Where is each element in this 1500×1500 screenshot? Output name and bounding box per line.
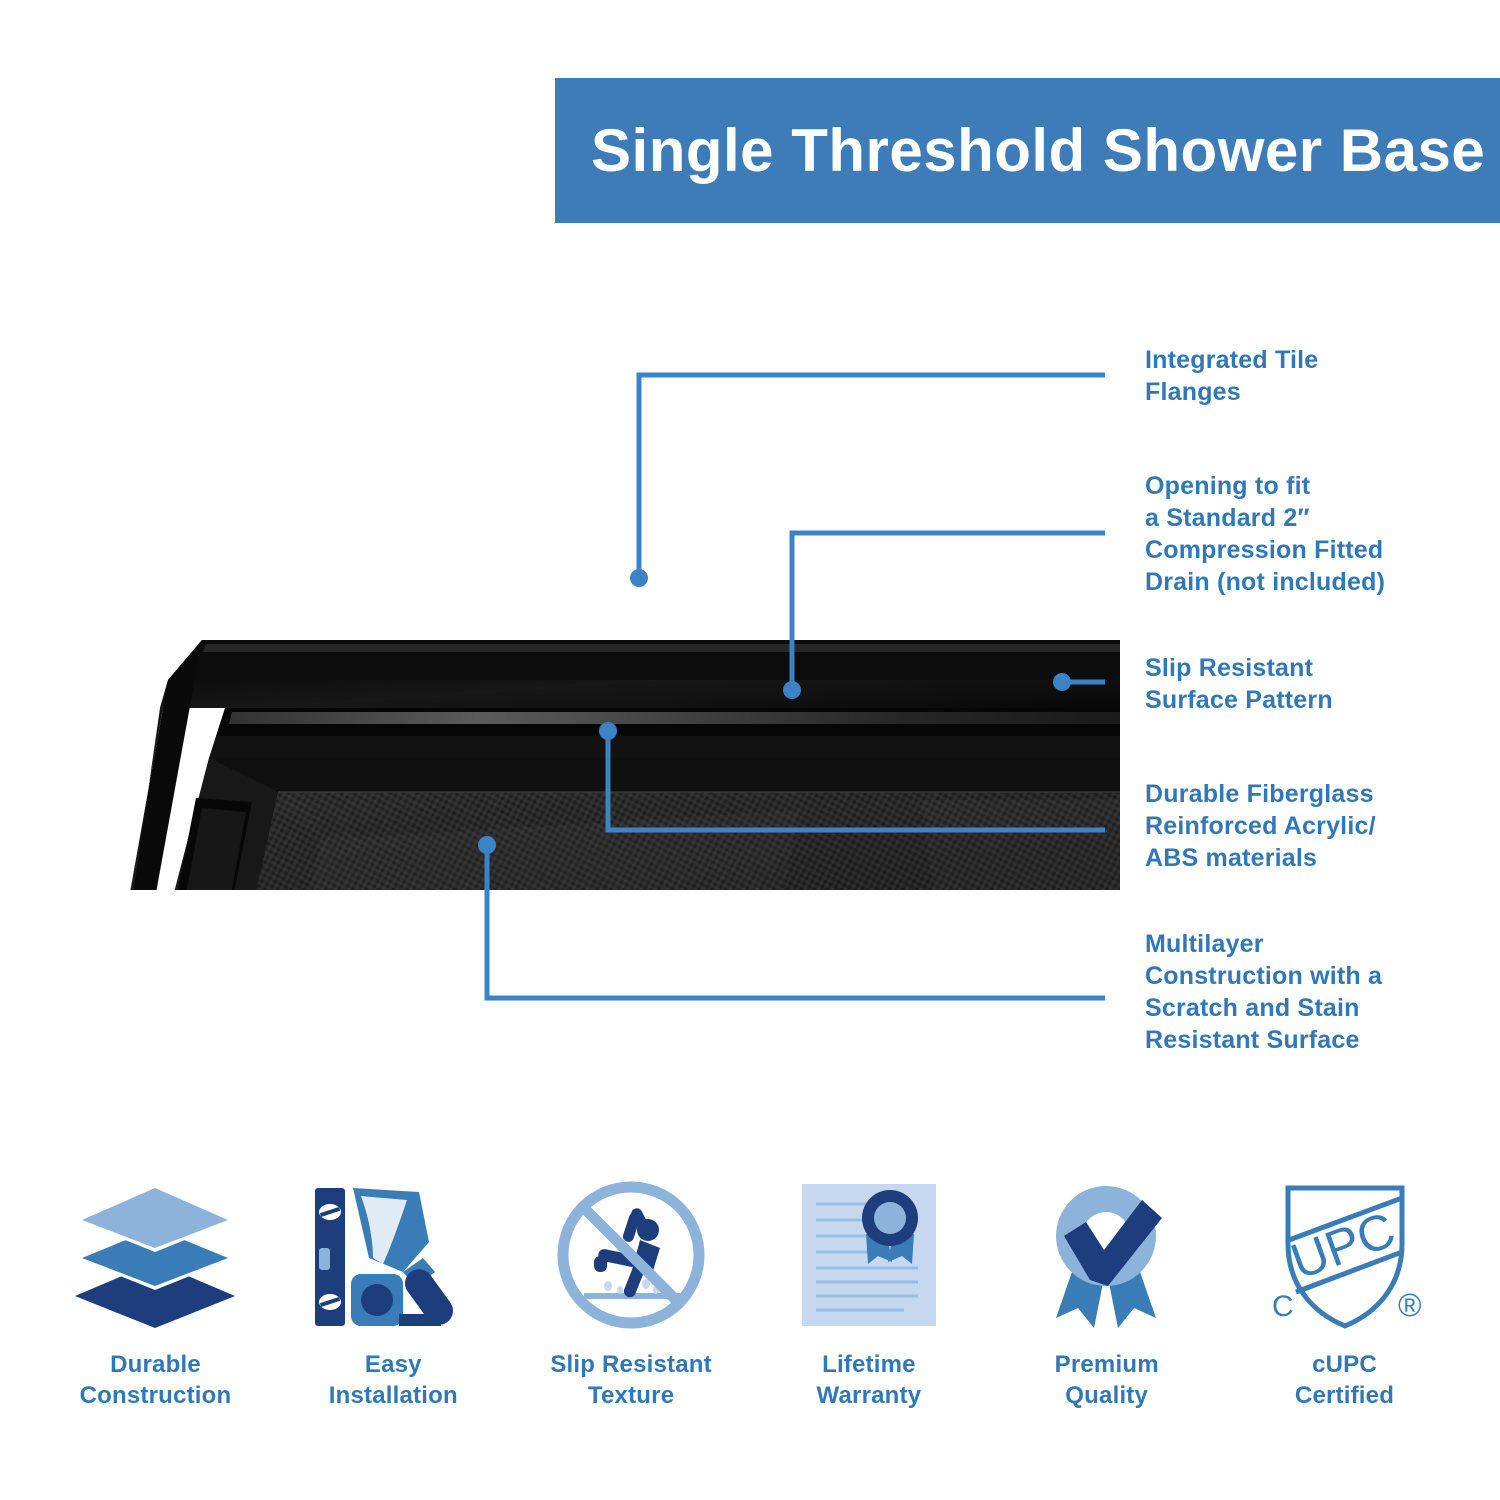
no-slip-warning-icon xyxy=(554,1175,709,1335)
feature-label: Premium Quality xyxy=(1055,1349,1159,1411)
certificate-ribbon-icon xyxy=(794,1175,944,1335)
feature-slip-resistant: Slip Resistant Texture xyxy=(524,1175,739,1465)
feature-strip: Durable Construction xyxy=(0,1175,1500,1465)
page-title: Single Threshold Shower Base xyxy=(591,121,1485,181)
callout-multilayer-construction: Multilayer Construction with a Scratch a… xyxy=(1145,928,1475,1056)
callout-durable-materials: Durable Fiberglass Reinforced Acrylic/ A… xyxy=(1145,778,1475,874)
upc-right-mark: ® xyxy=(1398,1287,1422,1323)
title-banner: Single Threshold Shower Base xyxy=(555,78,1500,223)
upc-shield-icon: UPC C ® xyxy=(1262,1175,1427,1335)
upc-left-mark: C xyxy=(1272,1290,1294,1323)
level-trowel-tape-icon xyxy=(311,1175,476,1335)
feature-label: Easy Installation xyxy=(329,1349,458,1411)
feature-label: Durable Construction xyxy=(80,1349,232,1411)
feature-cupc-certified: UPC C ® cUPC Certified xyxy=(1237,1175,1452,1465)
feature-premium-quality: Premium Quality xyxy=(999,1175,1214,1465)
checkmark-rosette-icon xyxy=(1032,1175,1182,1335)
feature-label: Slip Resistant Texture xyxy=(550,1349,712,1411)
stacked-layers-icon xyxy=(68,1175,243,1335)
feature-label: Lifetime Warranty xyxy=(817,1349,922,1411)
feature-durable-construction: Durable Construction xyxy=(48,1175,263,1465)
callout-integrated-tile-flanges: Integrated Tile Flanges xyxy=(1145,344,1465,408)
feature-easy-installation: Easy Installation xyxy=(286,1175,501,1465)
callout-slip-resistant-surface: Slip Resistant Surface Pattern xyxy=(1145,652,1465,716)
feature-label: cUPC Certified xyxy=(1295,1349,1394,1411)
product-image xyxy=(20,540,1120,890)
infographic-page: Single Threshold Shower Base xyxy=(0,0,1500,1500)
feature-lifetime-warranty: Lifetime Warranty xyxy=(761,1175,976,1465)
callout-drain-opening: Opening to fit a Standard 2″ Compression… xyxy=(1145,470,1465,598)
